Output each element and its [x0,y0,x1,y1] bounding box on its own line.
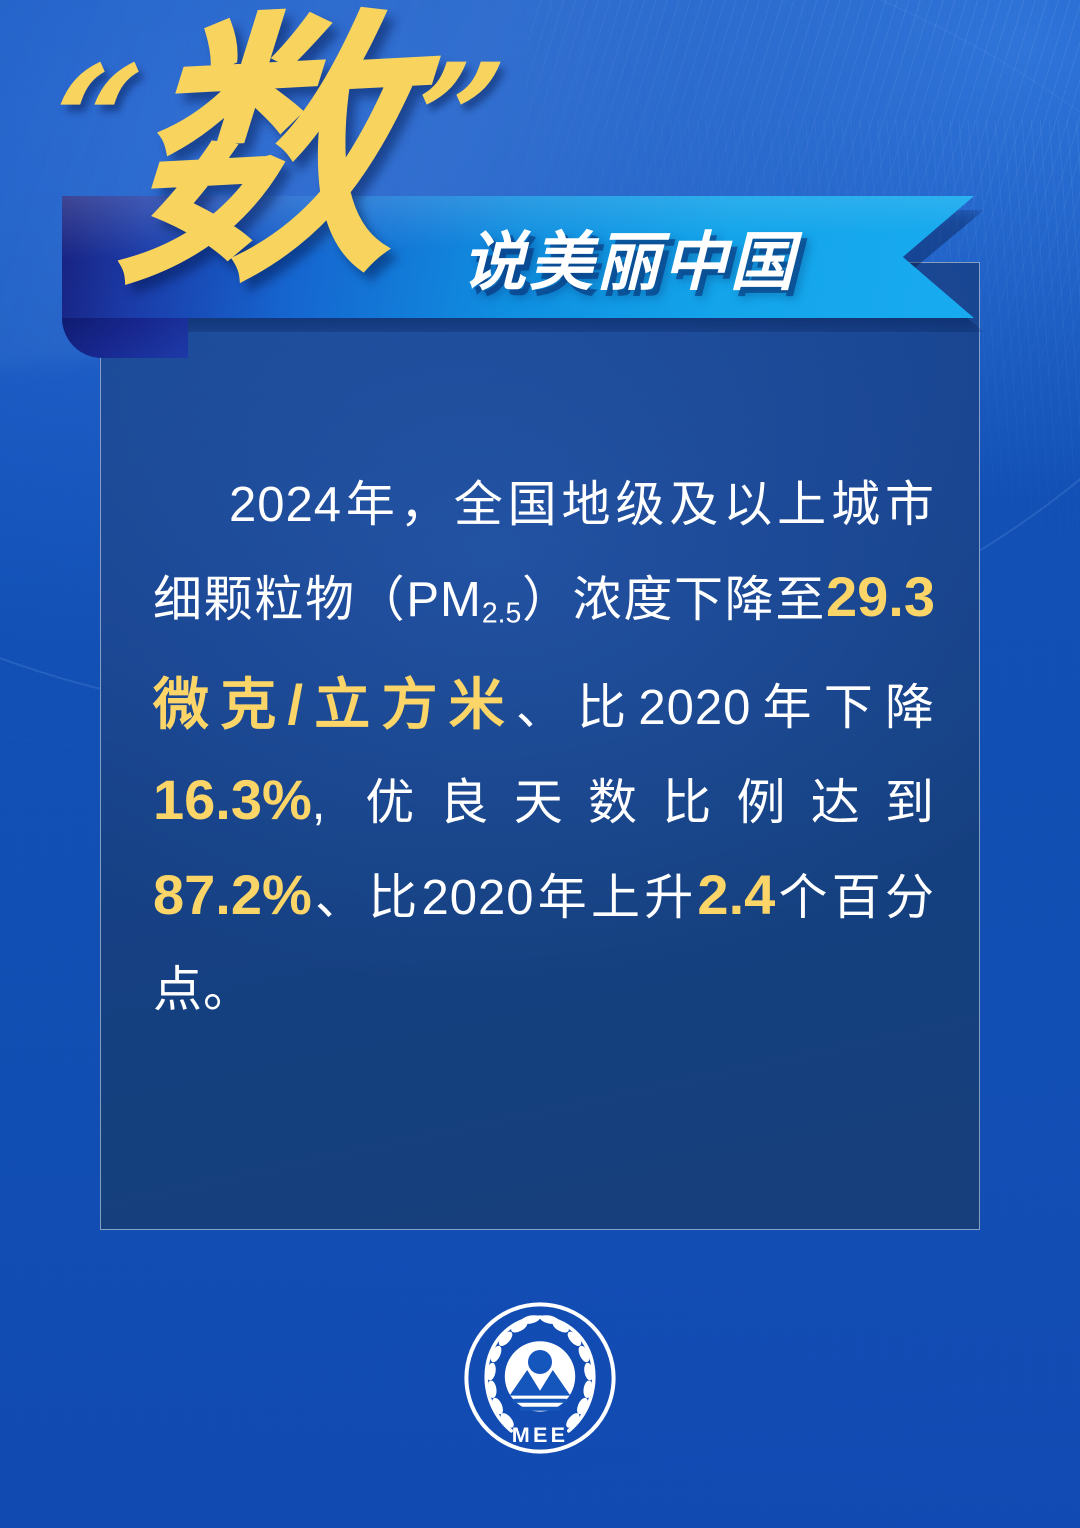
highlight-good-days: 87.2% [153,863,312,926]
content-frame: 2024年，全国地级及以上城市细颗粒物（PM2.5）浓度下降至29.3微克/立方… [100,262,980,1230]
mee-logo: MEE [460,1298,620,1458]
mee-logo-text: MEE [512,1422,568,1447]
title-banner: 说美丽中国 [62,196,992,336]
paragraph-lead-suffix: ）浓度下降至 [521,573,826,627]
statistic-paragraph: 2024年，全国地级及以上城市细颗粒物（PM2.5）浓度下降至29.3微克/立方… [153,459,935,1036]
paragraph-mid-1: 、比2020年下降 [516,681,935,735]
poster: 2024年，全国地级及以上城市细颗粒物（PM2.5）浓度下降至29.3微克/立方… [0,0,1080,1528]
pm-subscript: 2.5 [482,597,522,629]
banner-title-text: 说美丽中国 [462,196,797,318]
mee-emblem-icon: MEE [460,1298,620,1458]
highlight-point-rise: 2.4 [697,863,775,926]
highlight-pm-drop: 16.3% [153,768,312,831]
quote-open-mark: “ [41,46,148,196]
paragraph-mid-3: 、比2020年上升 [312,871,698,925]
paragraph-mid-2: , 优良天数比例达到 [312,776,935,830]
title-banner-fold [62,314,188,358]
quote-close-mark: ” [403,44,510,194]
